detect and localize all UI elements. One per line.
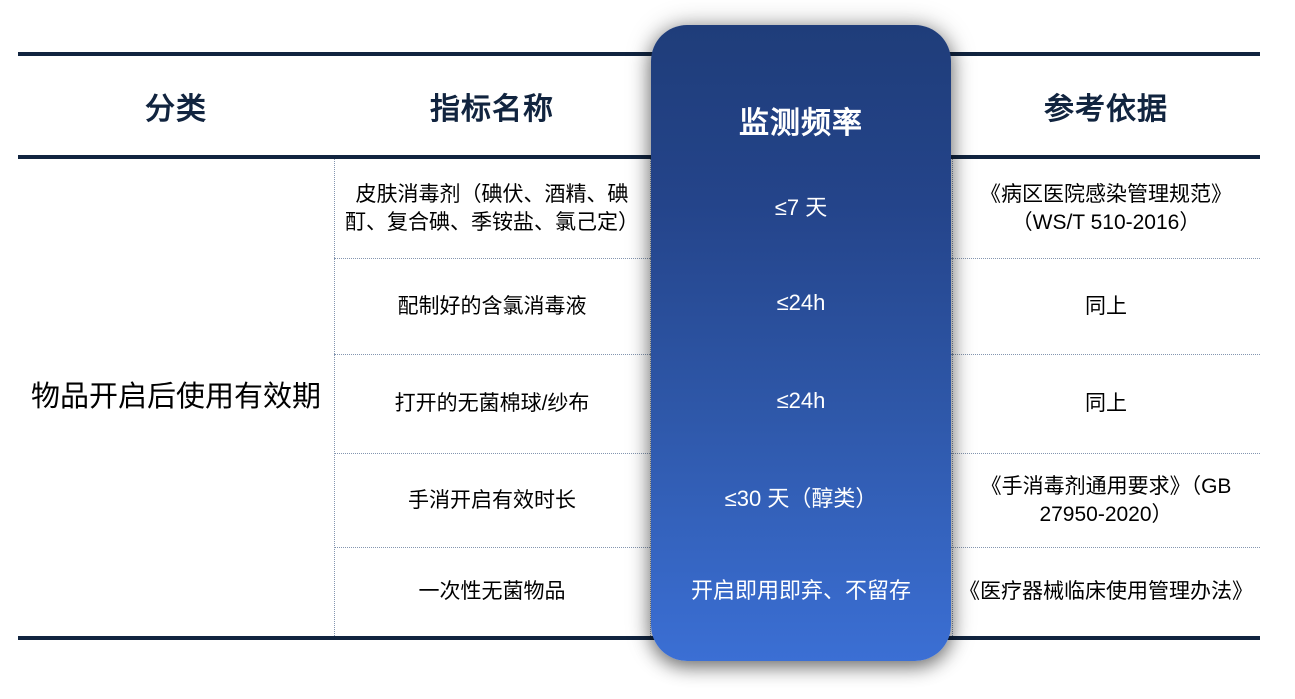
category-merged-cell: 物品开启后使用有效期 <box>18 159 334 636</box>
table-row: 《病区医院感染管理规范》（WS/T 510-2016） <box>952 159 1260 258</box>
header-cell-category: 分类 <box>18 56 334 155</box>
header-cell-indicator: 指标名称 <box>334 56 650 155</box>
column-indicator: 皮肤消毒剂（碘伏、酒精、碘酊、复合碘、季铵盐、氯己定） 配制好的含氯消毒液 打开… <box>334 159 650 636</box>
table-row: 手消开启有效时长 <box>334 453 650 547</box>
header-label-reference: 参考依据 <box>1044 84 1168 128</box>
table-row: 皮肤消毒剂（碘伏、酒精、碘酊、复合碘、季铵盐、氯己定） <box>334 159 650 258</box>
table-bottom-rule <box>18 636 1260 640</box>
column-divider-reference <box>952 159 953 636</box>
frequency-value: ≤24h <box>651 255 951 351</box>
frequency-value: ≤30 天（醇类） <box>651 450 951 544</box>
column-divider-indicator <box>334 159 335 636</box>
column-category: 物品开启后使用有效期 <box>18 159 334 636</box>
frequency-value: ≤7 天 <box>651 156 951 255</box>
header-label-indicator: 指标名称 <box>430 84 554 128</box>
frequency-value: ≤24h <box>651 351 951 450</box>
highlight-panel-frequency[interactable]: 监测频率 ≤7 天 ≤24h ≤24h ≤30 天（醇类） 开启即用即弃、不留存 <box>651 25 951 661</box>
comparison-table: 分类 指标名称 监测频率 参考依据 物品开启后使用有效期 皮肤消毒剂（碘伏 <box>18 52 1260 640</box>
frequency-value: 开启即用即弃、不留存 <box>651 544 951 633</box>
table-row: 一次性无菌物品 <box>334 547 650 636</box>
header-label-category: 分类 <box>145 84 207 128</box>
table-row: 《手消毒剂通用要求》（GB 27950-2020） <box>952 453 1260 547</box>
highlight-panel-title: 监测频率 <box>651 25 951 156</box>
table-header-row: 分类 指标名称 监测频率 参考依据 <box>18 56 1260 155</box>
table-row: 同上 <box>952 354 1260 453</box>
column-reference: 《病区医院感染管理规范》（WS/T 510-2016） 同上 同上 《手消毒剂通… <box>952 159 1260 636</box>
table-row: 配制好的含氯消毒液 <box>334 258 650 354</box>
table-row: 同上 <box>952 258 1260 354</box>
table-row: 打开的无菌棉球/纱布 <box>334 354 650 453</box>
highlight-panel-values: ≤7 天 ≤24h ≤24h ≤30 天（醇类） 开启即用即弃、不留存 <box>651 156 951 661</box>
table-row: 《医疗器械临床使用管理办法》 <box>952 547 1260 636</box>
header-cell-reference: 参考依据 <box>952 56 1260 155</box>
slide-canvas: 分类 指标名称 监测频率 参考依据 物品开启后使用有效期 皮肤消毒剂（碘伏 <box>0 0 1295 699</box>
table-body: 物品开启后使用有效期 皮肤消毒剂（碘伏、酒精、碘酊、复合碘、季铵盐、氯己定） 配… <box>18 159 1260 636</box>
